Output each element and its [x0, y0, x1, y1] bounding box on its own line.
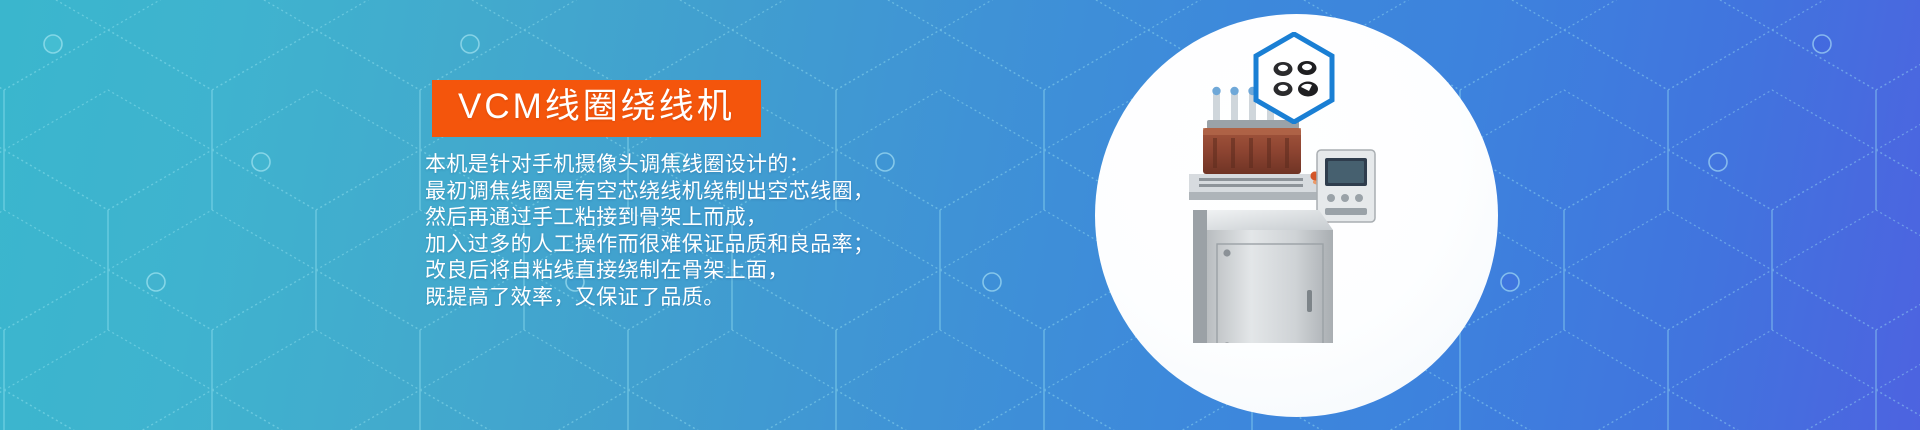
description-line: 然后再通过手工粘接到骨架上而成，	[425, 205, 874, 232]
banner-title-box: VCM线圈绕线机	[432, 80, 761, 137]
description-line: 既提高了效率，又保证了品质。	[425, 285, 874, 312]
description-line: 本机是针对手机摄像头调焦线圈设计的：	[425, 152, 874, 179]
description-line: 改良后将自粘线直接绕制在骨架上面，	[425, 258, 874, 285]
page-title: VCM线圈绕线机	[458, 89, 735, 124]
description-line: 最初调焦线圈是有空芯绕线机绕制出空芯线圈，	[425, 179, 874, 206]
hexagon-coil-badge	[1252, 32, 1336, 124]
isometric-hex-wireframe-pattern	[0, 0, 1920, 430]
banner-description: 本机是针对手机摄像头调焦线圈设计的： 最初调焦线圈是有空芯绕线机绕制出空芯线圈，…	[425, 152, 874, 311]
description-line: 加入过多的人工操作而很难保证品质和良品率；	[425, 232, 874, 259]
product-banner: VCM线圈绕线机 本机是针对手机摄像头调焦线圈设计的： 最初调焦线圈是有空芯绕线…	[0, 0, 1920, 430]
